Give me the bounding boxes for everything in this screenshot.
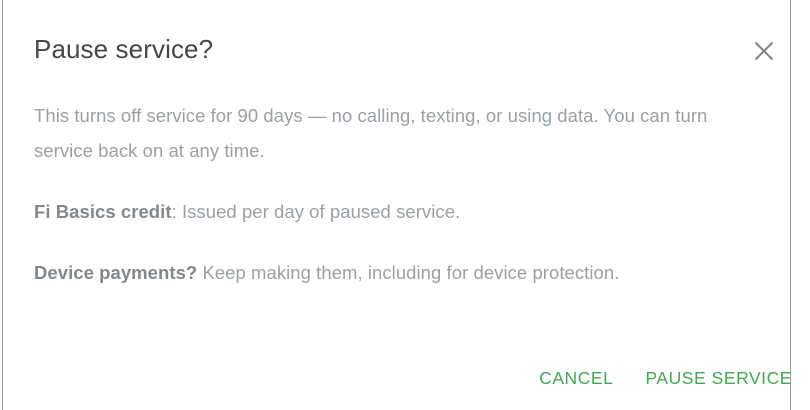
pause-service-button[interactable]: PAUSE SERVICE: [645, 366, 792, 390]
fact-text: Keep making them, including for device p…: [197, 262, 619, 283]
dialog-actions: CANCEL PAUSE SERVICE: [3, 356, 792, 400]
pause-service-dialog: Pause service? This turns off service fo…: [2, 0, 791, 410]
page-title: Pause service?: [34, 34, 213, 65]
fact-fi-basics-credit: Fi Basics credit: Issued per day of paus…: [34, 194, 764, 229]
lead-paragraph: This turns off service for 90 days — no …: [34, 98, 756, 168]
close-icon: [753, 40, 775, 62]
dialog-body: This turns off service for 90 days — no …: [34, 98, 764, 290]
fact-label: Fi Basics credit: [34, 201, 172, 222]
close-button[interactable]: [743, 30, 785, 72]
fact-device-payments: Device payments? Keep making them, inclu…: [34, 255, 764, 290]
cancel-button[interactable]: CANCEL: [539, 366, 613, 390]
fact-text: : Issued per day of paused service.: [172, 201, 461, 222]
fact-label: Device payments?: [34, 262, 197, 283]
